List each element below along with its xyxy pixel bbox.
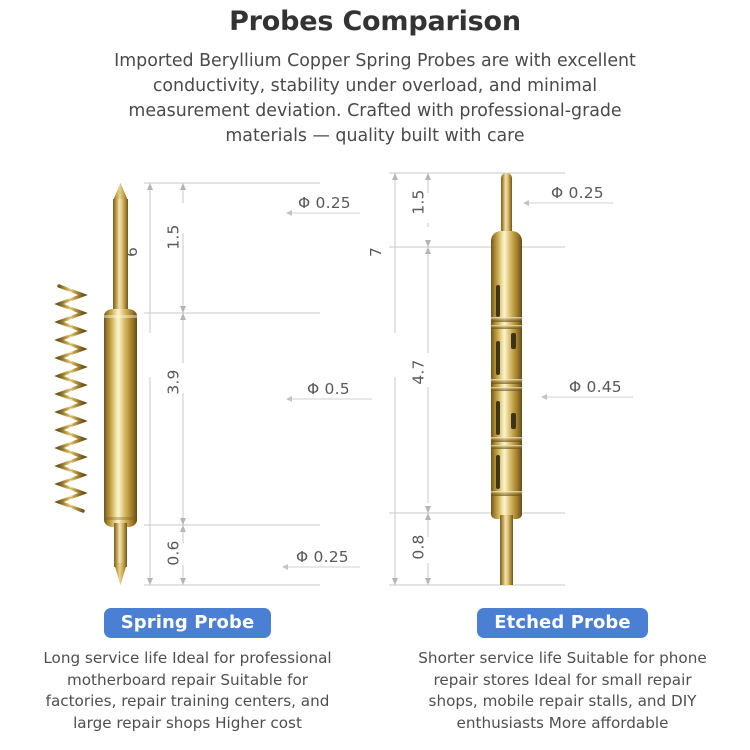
- etched-slot-4: [496, 455, 500, 489]
- spring-probe-upper-pin: [113, 199, 128, 313]
- spring-barrel-diameter-label: Φ 0.5: [307, 380, 350, 398]
- page-title: Probes Comparison: [0, 0, 750, 37]
- intro-paragraph: Imported Beryllium Copper Spring Probes …: [95, 49, 655, 149]
- etched-segment-0.8-label: 0.8: [410, 534, 428, 559]
- etched-total-length-label: 7: [367, 247, 385, 257]
- probe-diagram: 6 1.5 3.9 0.6 Φ 0.25 Φ 0.5 Φ 0.25: [0, 165, 750, 605]
- etched-probe-badge[interactable]: Etched Probe: [477, 608, 647, 638]
- spring-segment-1.5-label: 1.5: [165, 224, 183, 249]
- etched-probe-description: Shorter service life Suitable for phone …: [413, 648, 713, 734]
- etched-segment-4.7-label: 4.7: [410, 359, 428, 384]
- spring-tail-diameter-label: Φ 0.25: [296, 548, 349, 566]
- etched-slot-1: [496, 285, 500, 317]
- etched-pin-diameter-label: Φ 0.25: [551, 184, 604, 202]
- spring-probe-figure: 6 1.5 3.9 0.6 Φ 0.25 Φ 0.5 Φ 0.25: [0, 165, 375, 605]
- spring-probe-barrel: [104, 309, 137, 527]
- etched-dimension-lines: [375, 165, 750, 605]
- etched-barrel-ring-3: [491, 379, 522, 384]
- etched-barrel-diameter-label: Φ 0.45: [569, 378, 622, 396]
- etched-barrel-ring-7: [491, 491, 522, 496]
- spring-coil: [52, 280, 92, 518]
- spring-probe-barrel-top-seam: [104, 315, 137, 318]
- etched-segment-1.5-label: 1.5: [410, 189, 428, 214]
- etched-barrel-ring-2: [491, 325, 522, 329]
- spring-probe-description: Long service life Ideal for professional…: [38, 648, 338, 734]
- spring-probe-badge[interactable]: Spring Probe: [104, 608, 272, 638]
- spring-probe-caption: Spring Probe Long service life Ideal for…: [0, 608, 375, 734]
- etched-barrel-ring-5: [491, 437, 522, 442]
- etched-slot-6: [511, 413, 516, 429]
- spring-probe-lower-pin: [114, 523, 127, 567]
- captions-row: Spring Probe Long service life Ideal for…: [0, 608, 750, 750]
- etched-probe-tail: [500, 515, 513, 585]
- etched-barrel-ring-4: [491, 387, 522, 391]
- etched-probe-figure: 7 1.5 4.7 0.8 Φ 0.25 Φ 0.45: [375, 165, 750, 605]
- etched-probe-caption: Etched Probe Shorter service life Suitab…: [375, 608, 750, 734]
- etched-barrel-ring-1: [491, 317, 522, 322]
- header: Probes Comparison Imported Beryllium Cop…: [0, 0, 750, 149]
- etched-slot-2: [496, 341, 500, 375]
- etched-probe-top-pin: [501, 173, 512, 239]
- etched-barrel-ring-6: [491, 445, 522, 449]
- etched-slot-3: [496, 401, 500, 435]
- etched-slot-5: [511, 333, 516, 349]
- spring-segment-3.9-label: 3.9: [165, 369, 183, 394]
- spring-probe-barrel-bottom-seam: [104, 517, 137, 520]
- spring-tip-diameter-label: Φ 0.25: [298, 194, 351, 212]
- spring-segment-0.6-label: 0.6: [165, 540, 183, 565]
